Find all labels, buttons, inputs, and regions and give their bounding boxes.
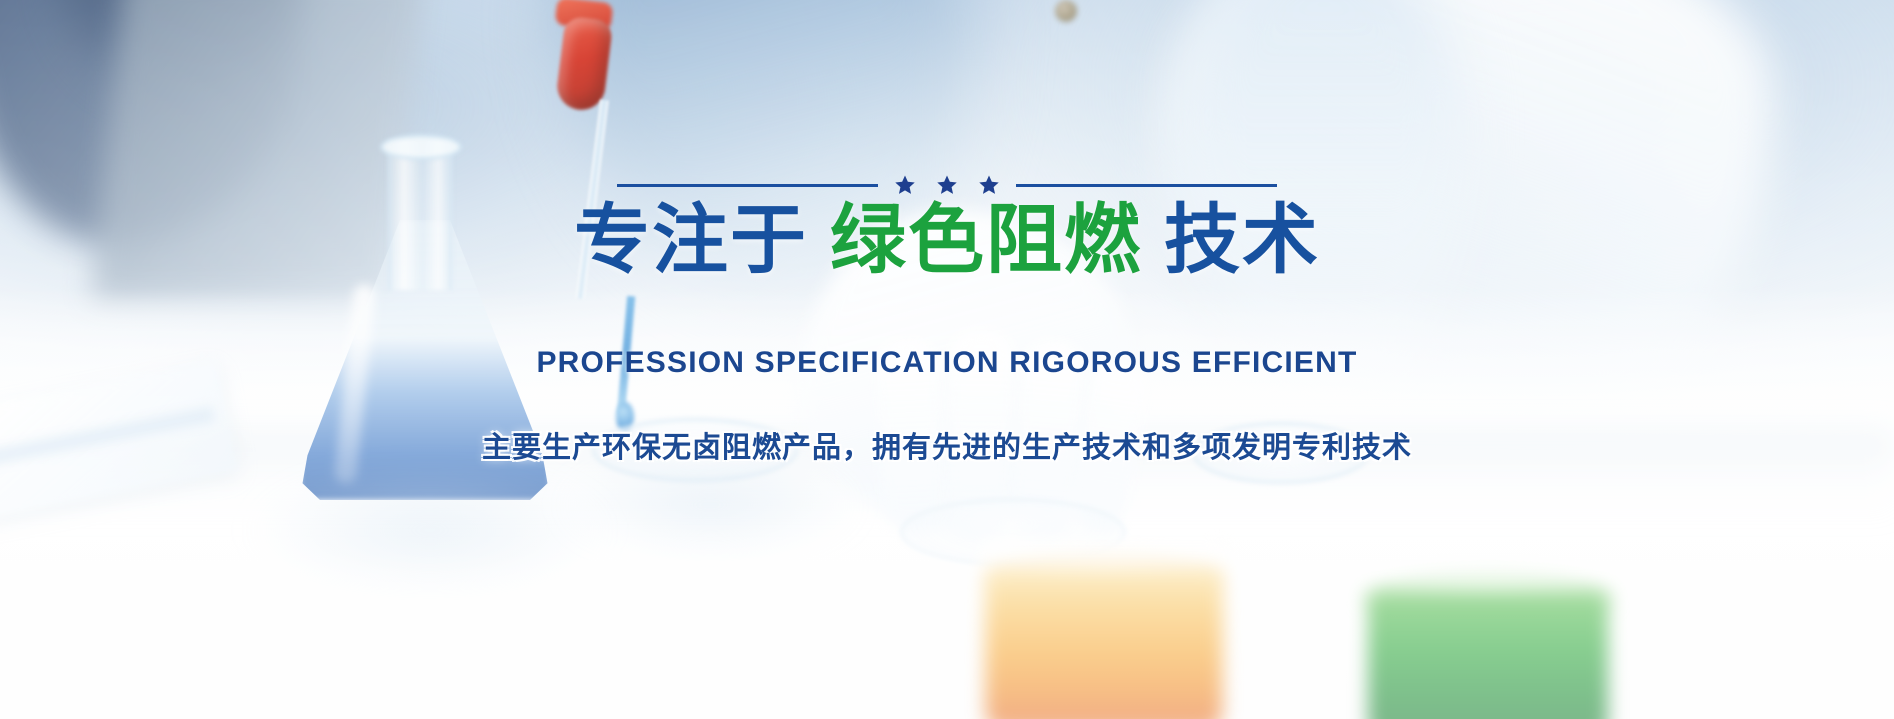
lab-coat-button xyxy=(1055,0,1077,22)
headline-part-1: 专注于 xyxy=(574,198,808,283)
banner-description: 主要生产环保无卤阻燃产品，拥有先进的生产技术和多项发明专利技术 xyxy=(482,424,1412,466)
hero-banner: 专注于绿色阻燃技术 PROFESSION SPECIFICATION RIGOR… xyxy=(0,0,1894,719)
decorative-divider xyxy=(617,174,1277,196)
headline-part-3: 技术 xyxy=(1164,198,1320,283)
star-group xyxy=(894,174,1000,196)
star-icon xyxy=(894,174,916,196)
bench-reflection xyxy=(560,455,860,555)
divider-rule-left xyxy=(617,184,878,187)
star-icon xyxy=(978,174,1000,196)
green-flask-liquid xyxy=(1368,592,1608,719)
flask-lip xyxy=(380,134,462,160)
banner-subtitle-en: PROFESSION SPECIFICATION RIGOROUS EFFICI… xyxy=(536,346,1357,380)
orange-beaker-liquid xyxy=(986,570,1222,719)
banner-headline: 专注于绿色阻燃技术 xyxy=(574,202,1320,280)
flask-neck xyxy=(388,140,452,290)
bench-reflection xyxy=(250,470,610,590)
headline-part-2: 绿色阻燃 xyxy=(830,198,1142,283)
star-icon xyxy=(936,174,958,196)
divider-rule-right xyxy=(1016,184,1277,187)
